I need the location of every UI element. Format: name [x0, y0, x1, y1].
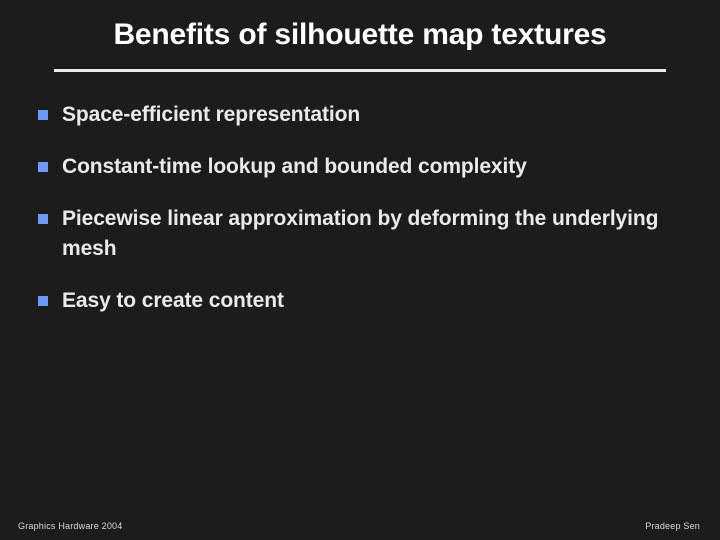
square-bullet-icon — [38, 162, 48, 172]
square-bullet-icon — [38, 214, 48, 224]
footer-conference-label: Graphics Hardware 2004 — [18, 521, 122, 531]
square-bullet-icon — [38, 296, 48, 306]
list-item: Easy to create content — [38, 286, 702, 316]
footer-author-label: Pradeep Sen — [645, 521, 700, 531]
list-item-label: Space-efficient representation — [62, 100, 702, 130]
list-item-label: Piecewise linear approximation by deform… — [62, 204, 702, 264]
list-item: Space-efficient representation — [38, 100, 702, 130]
title-divider — [54, 69, 666, 72]
list-item: Piecewise linear approximation by deform… — [38, 204, 702, 264]
title-block: Benefits of silhouette map textures — [54, 16, 666, 54]
page-title: Benefits of silhouette map textures — [54, 16, 666, 54]
list-item-label: Constant-time lookup and bounded complex… — [62, 152, 702, 182]
slide-footer: Graphics Hardware 2004 Pradeep Sen — [0, 510, 720, 540]
list-item: Constant-time lookup and bounded complex… — [38, 152, 702, 182]
bullet-list: Space-efficient representation Constant-… — [38, 100, 702, 316]
presentation-slide: Benefits of silhouette map textures Spac… — [0, 0, 720, 540]
list-item-label: Easy to create content — [62, 286, 702, 316]
square-bullet-icon — [38, 110, 48, 120]
